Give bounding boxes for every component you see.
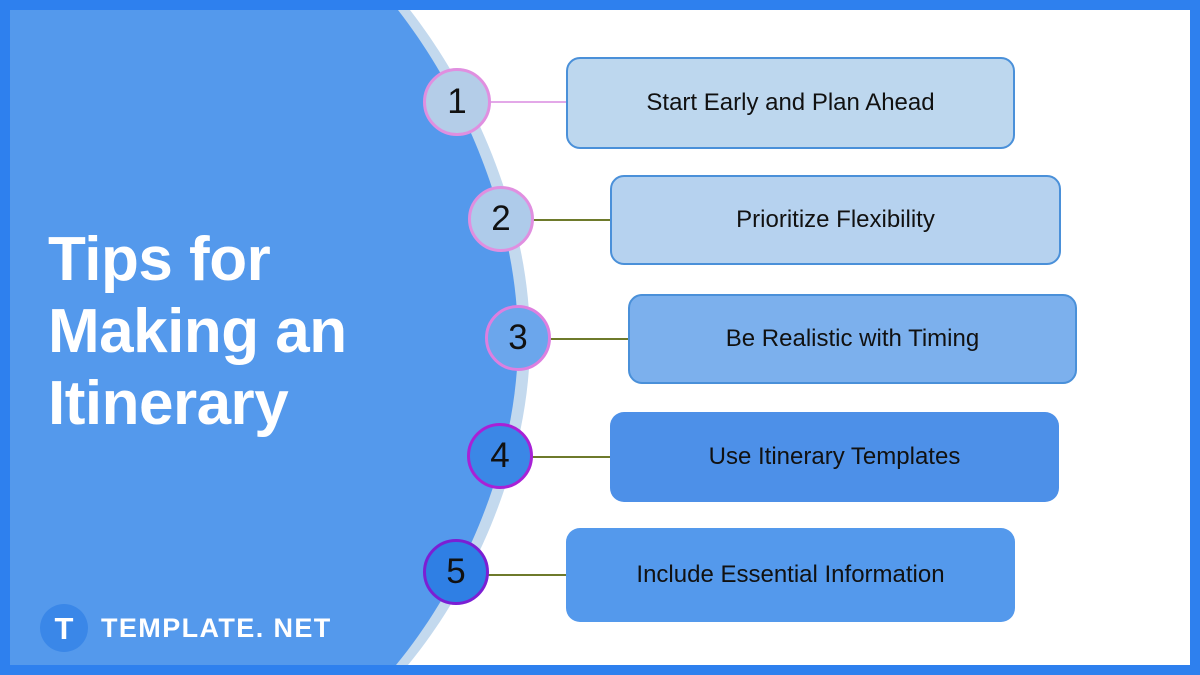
step-number-2[interactable]: 2 [468,186,534,252]
step-number-5[interactable]: 5 [423,539,489,605]
step-number-3[interactable]: 3 [485,305,551,371]
template-t-icon: T [40,604,88,652]
title-line-3: Itinerary [48,368,418,440]
title-line-2: Making an [48,296,418,368]
step-box-2[interactable]: Prioritize Flexibility [610,175,1061,265]
step-number-4[interactable]: 4 [467,423,533,489]
connector-line-4 [532,456,612,458]
connector-line-2 [533,219,613,221]
step-box-4[interactable]: Use Itinerary Templates [610,412,1059,502]
step-box-3[interactable]: Be Realistic with Timing [628,294,1077,384]
infographic-canvas: Tips for Making an Itinerary T TEMPLATE.… [0,0,1200,675]
step-number-1[interactable]: 1 [423,68,491,136]
connector-line-1 [490,101,568,103]
brand-name: TEMPLATE. NET [101,613,332,644]
step-box-5[interactable]: Include Essential Information [566,528,1015,622]
title-line-1: Tips for [48,224,418,296]
page-title: Tips for Making an Itinerary [48,224,418,440]
connector-line-3 [550,338,630,340]
step-box-1[interactable]: Start Early and Plan Ahead [566,57,1015,149]
connector-line-5 [488,574,568,576]
brand-logo: T TEMPLATE. NET [40,604,332,652]
